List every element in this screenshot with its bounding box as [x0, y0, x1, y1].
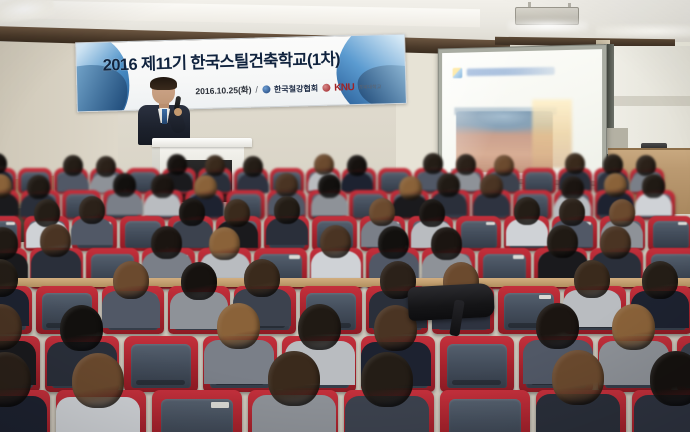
audience-head	[494, 155, 514, 176]
audience-head	[224, 199, 250, 227]
audience-head	[456, 154, 476, 175]
audience-head	[205, 155, 225, 176]
black-bag	[407, 283, 495, 321]
audience-head	[243, 156, 263, 177]
audience-member	[574, 260, 610, 346]
banner-org1: 한국철강협회	[274, 82, 318, 94]
audience-head	[552, 350, 604, 405]
audience-member	[361, 352, 413, 432]
seat-grip	[136, 380, 185, 386]
audience-head	[298, 304, 341, 350]
presenter-tie	[162, 109, 167, 124]
audience-head	[642, 174, 665, 198]
banner-date: 2016.10.25(화)	[195, 84, 251, 97]
presenter-hand	[174, 108, 182, 116]
audience-head	[431, 227, 462, 260]
audience-head	[320, 225, 351, 258]
audience-head	[314, 154, 334, 175]
audience-head	[40, 224, 71, 257]
audience-head	[318, 174, 341, 198]
audience-head	[604, 173, 627, 197]
audience-head	[151, 174, 174, 198]
auditorium-seat[interactable]	[648, 216, 690, 251]
seat-number-plate	[289, 255, 300, 259]
audience-head	[34, 199, 60, 227]
slide-logo-icon	[453, 68, 463, 79]
auditorium-seat[interactable]	[440, 336, 514, 392]
seat-back-pad	[449, 399, 521, 432]
audience-head	[547, 225, 578, 258]
audience-member	[113, 261, 149, 347]
audience-head	[561, 176, 584, 200]
booth-wall-band	[610, 96, 690, 106]
audience-head	[113, 261, 149, 299]
audience-head	[209, 227, 240, 260]
seat-number-plate	[211, 402, 229, 408]
audience-member	[552, 350, 604, 432]
audience-head	[480, 174, 503, 198]
audience-head	[113, 173, 136, 197]
projector-lens-glow	[508, 20, 588, 32]
audience-head	[361, 352, 413, 407]
audience-head	[217, 303, 260, 349]
audience-head	[268, 351, 320, 406]
seat-number-plate	[678, 222, 687, 225]
audience-head	[167, 154, 187, 175]
audience-member	[650, 351, 690, 432]
banner-org2-mark: KNU	[334, 82, 354, 94]
seat-grip	[452, 380, 501, 386]
audience-seating	[0, 150, 690, 432]
audience-head	[179, 198, 205, 226]
banner-separator: /	[255, 85, 258, 95]
audience-head	[514, 197, 540, 225]
audience-head	[423, 153, 443, 174]
presenter-hair	[150, 77, 177, 90]
seat-number-plate	[513, 255, 524, 259]
audience-head	[612, 304, 655, 350]
audience-head	[378, 226, 409, 259]
audience-head	[63, 155, 83, 176]
audience-head	[275, 173, 298, 197]
seat-number-plate	[6, 222, 15, 225]
audience-head	[181, 262, 217, 300]
audience-head	[609, 199, 635, 227]
audience-head	[60, 305, 103, 351]
shield-logo-icon	[262, 85, 270, 93]
seat-back-pad	[525, 172, 552, 192]
audience-head	[369, 198, 395, 226]
auditorium-seat[interactable]	[124, 336, 198, 392]
audience-head	[565, 153, 585, 174]
audience-head	[79, 196, 105, 224]
seat-number-plate	[539, 295, 551, 299]
audience-head	[536, 303, 579, 349]
audience-head	[347, 155, 367, 176]
audience-head	[419, 199, 445, 227]
audience-member	[72, 353, 124, 432]
auditorium-seat[interactable]	[440, 390, 530, 432]
audience-head	[636, 155, 656, 176]
audience-head	[603, 154, 623, 175]
presenter	[134, 78, 196, 142]
slide-title-text	[467, 67, 555, 76]
audience-head	[437, 173, 460, 197]
audience-head	[244, 259, 280, 297]
ceiling-light-right	[596, 24, 690, 38]
auditorium-seat[interactable]	[152, 390, 242, 432]
audience-head	[642, 261, 678, 299]
audience-head	[27, 175, 50, 199]
auditorium-seat[interactable]	[456, 216, 501, 251]
audience-head	[600, 226, 631, 259]
audience-head	[274, 196, 300, 224]
lectern-top	[152, 138, 252, 147]
audience-head	[151, 226, 182, 259]
audience-head	[574, 260, 610, 298]
audience-head	[559, 198, 585, 226]
audience-head	[72, 353, 124, 408]
audience-head	[650, 351, 690, 406]
banner-org2-sub: 경북대학교	[358, 83, 381, 91]
audience-head	[399, 176, 422, 200]
knu-logo-icon	[322, 84, 330, 92]
audience-member	[0, 352, 31, 432]
audience-member	[268, 351, 320, 432]
audience-head	[194, 175, 217, 199]
lecture-hall-photo: 2016 제11기 한국스틸건축학교(1차) 2016.10.25(화) / 한…	[0, 0, 690, 432]
event-banner: 2016 제11기 한국스틸건축학교(1차) 2016.10.25(화) / 한…	[75, 34, 407, 113]
seat-number-plate	[486, 222, 495, 225]
